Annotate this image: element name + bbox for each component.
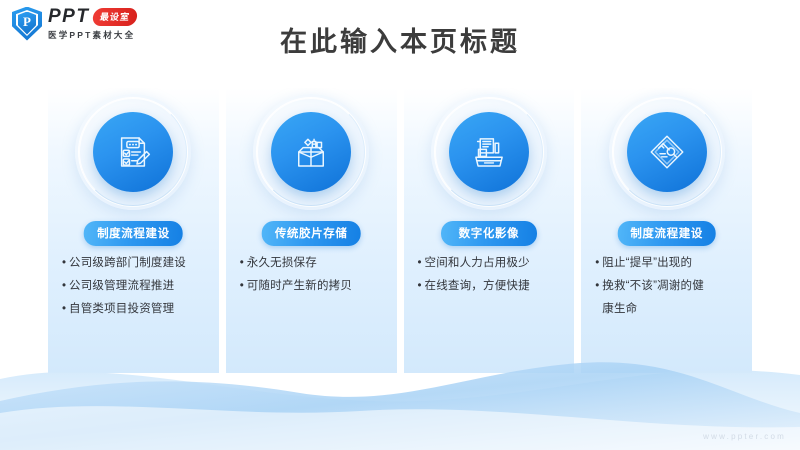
brand-badge: 最设室 [92, 8, 138, 26]
bullet-text: 公司级跨部门制度建设 [69, 254, 209, 273]
brand-logo: P PPT 最设室 医学PPT素材大全 [12, 6, 137, 41]
site-watermark: www.ppter.com [703, 432, 786, 441]
card-badge: 制度流程建设 [84, 221, 183, 246]
list-item: • 在线查询，方便快捷 [418, 277, 565, 296]
card-bullets: • 永久无损保存 • 可随时产生新的拷贝 [240, 254, 387, 300]
bullet-text: 永久无损保存 [247, 254, 387, 273]
bullet-marker: • [418, 277, 425, 296]
list-item: • 公司级跨部门制度建设 [62, 254, 209, 273]
card-badge: 制度流程建设 [617, 221, 716, 246]
bullet-text: 康生命 [602, 300, 742, 319]
bullet-marker: • [240, 254, 247, 273]
bullet-marker: • [62, 277, 69, 296]
card-grid: 制度流程建设 • 公司级跨部门制度建设 • 公司级管理流程推进 • 自管类项目投… [48, 88, 752, 373]
feature-card-2[interactable]: 传统胶片存储 • 永久无损保存 • 可随时产生新的拷贝 [226, 88, 397, 373]
shield-letter: P [12, 7, 42, 41]
feature-card-1[interactable]: 制度流程建设 • 公司级跨部门制度建设 • 公司级管理流程推进 • 自管类项目投… [48, 88, 219, 373]
bullet-text: 挽救“不该”凋谢的健 [602, 277, 742, 296]
document-pen-search-icon [627, 112, 707, 192]
bullet-text: 公司级管理流程推进 [69, 277, 209, 296]
bullet-marker: • [595, 254, 602, 273]
list-item: • 永久无损保存 [240, 254, 387, 273]
bullet-marker: • [62, 254, 69, 273]
slide-canvas: P PPT 最设室 医学PPT素材大全 在此输入本页标题 [0, 0, 800, 450]
bullet-text: 在线查询，方便快捷 [425, 277, 565, 296]
brand-row: PPT 最设室 [48, 6, 137, 28]
card-bullets: • 阻止“提早”出现的 • 挽救“不该”凋谢的健 康生命 [595, 254, 742, 323]
list-item: • 挽救“不该”凋谢的健 [595, 277, 742, 296]
brand-wordmark: PPT [48, 6, 89, 28]
list-item: • 可随时产生新的拷贝 [240, 277, 387, 296]
feature-card-3[interactable]: 数字化影像 • 空间和人力占用极少 • 在线查询，方便快捷 [404, 88, 575, 373]
bullet-marker: • [240, 277, 247, 296]
open-box-supplies-icon [271, 112, 351, 192]
feature-card-4[interactable]: 制度流程建设 • 阻止“提早”出现的 • 挽救“不该”凋谢的健 康生命 [581, 88, 752, 373]
scanner-documents-icon [449, 112, 529, 192]
card-bullets: • 空间和人力占用极少 • 在线查询，方便快捷 [418, 254, 565, 300]
list-item: • 公司级管理流程推进 [62, 277, 209, 296]
card-badge: 数字化影像 [441, 221, 537, 246]
bullet-marker: • [418, 254, 425, 273]
list-item: • 空间和人力占用极少 [418, 254, 565, 273]
card-badge: 传统胶片存储 [262, 221, 361, 246]
brand-text: PPT 最设室 医学PPT素材大全 [48, 6, 137, 41]
brand-subtitle: 医学PPT素材大全 [48, 29, 137, 41]
bullet-text: 可随时产生新的拷贝 [247, 277, 387, 296]
list-item: 康生命 [595, 300, 742, 319]
decorative-waves [0, 335, 800, 450]
shield-icon: P [12, 7, 42, 41]
list-item: • 自管类项目投资管理 [62, 300, 209, 319]
bullet-text: 阻止“提早”出现的 [602, 254, 742, 273]
bullet-text: 空间和人力占用极少 [425, 254, 565, 273]
bullet-marker: • [595, 277, 602, 296]
clipboard-checklist-pencil-icon [93, 112, 173, 192]
bullet-marker: • [62, 300, 69, 319]
card-bullets: • 公司级跨部门制度建设 • 公司级管理流程推进 • 自管类项目投资管理 [62, 254, 209, 323]
list-item: • 阻止“提早”出现的 [595, 254, 742, 273]
bullet-text: 自管类项目投资管理 [69, 300, 209, 319]
